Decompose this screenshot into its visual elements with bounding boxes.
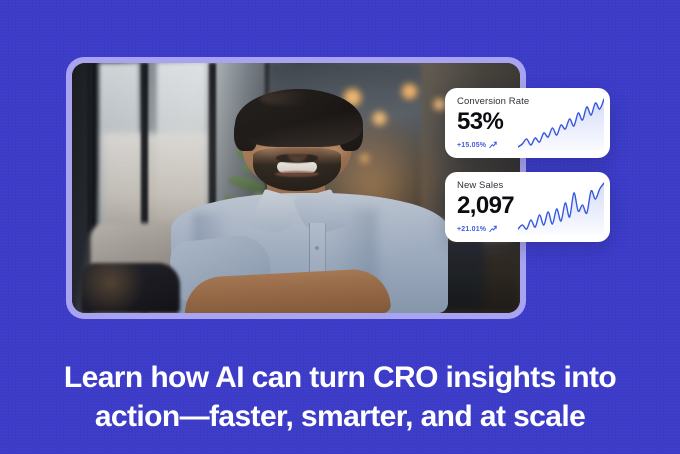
metric-delta: +15.05% <box>457 141 497 149</box>
promo-banner: Conversion Rate 53% +15.05% New Sales 2,… <box>0 0 680 454</box>
sparkline-conversion-rate <box>518 95 604 151</box>
headline-line-2: action—faster, smarter, and at scale <box>40 397 640 436</box>
metric-value: 2,097 <box>457 194 514 218</box>
trend-up-icon <box>489 141 497 149</box>
metric-card-new-sales[interactable]: New Sales 2,097 +21.01% <box>445 172 610 242</box>
knit-bag <box>81 263 180 313</box>
metric-delta-text: +15.05% <box>457 142 486 149</box>
shirt-button <box>315 246 319 250</box>
headline: Learn how AI can turn CRO insights into … <box>0 358 680 436</box>
metric-delta-text: +21.01% <box>457 226 486 233</box>
hair-highlight <box>260 91 327 106</box>
metric-value: 53% <box>457 110 503 134</box>
sparkline-new-sales <box>518 179 604 235</box>
lower-lip <box>275 171 319 177</box>
metric-card-conversion-rate[interactable]: Conversion Rate 53% +15.05% <box>445 88 610 158</box>
trend-up-icon <box>489 225 497 233</box>
metric-label: New Sales <box>457 180 503 191</box>
metric-delta: +21.01% <box>457 225 497 233</box>
headline-line-1: Learn how AI can turn CRO insights into <box>40 358 640 397</box>
